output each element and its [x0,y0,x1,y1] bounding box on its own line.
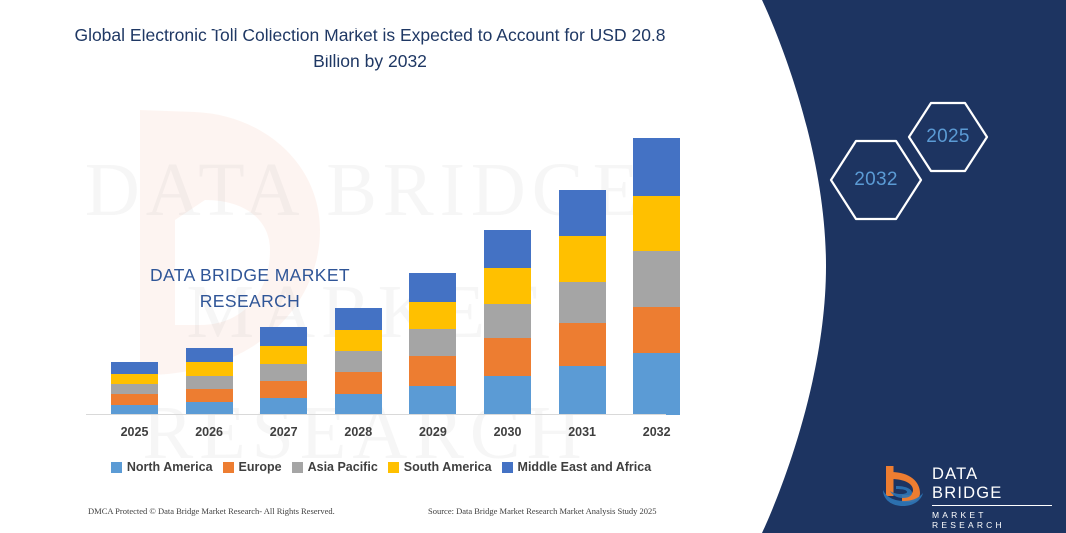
right-panel-content: DATA BRIDGE MARKET RESEARCH Global Elect… [0,0,1066,533]
panel-brand-text: DATA BRIDGE MARKET RESEARCH [100,262,400,315]
company-logo: DATA BRIDGE MARKET RESEARCH [880,462,1052,508]
panel-watermark: DATA BRIDGE MARKET RESEARCH [120,95,400,265]
logo-text-secondary: MARKET RESEARCH [932,510,1052,530]
hexagon-2025-label: 2025 [926,126,969,148]
panel-title: Global Electronic Toll Collection Market… [140,12,390,88]
hexagon-group: 2025 2032 [828,100,988,210]
hexagon-2032: 2032 [828,138,924,222]
hexagon-2032-label: 2032 [854,169,897,191]
logo-text-primary: DATA BRIDGE [932,465,1052,506]
infographic-root: DATA BRIDGE MARKET RESEARCH Global Elect… [0,0,1066,533]
logo-mark-icon [880,462,926,508]
logo-text: DATA BRIDGE MARKET RESEARCH [932,465,1052,530]
